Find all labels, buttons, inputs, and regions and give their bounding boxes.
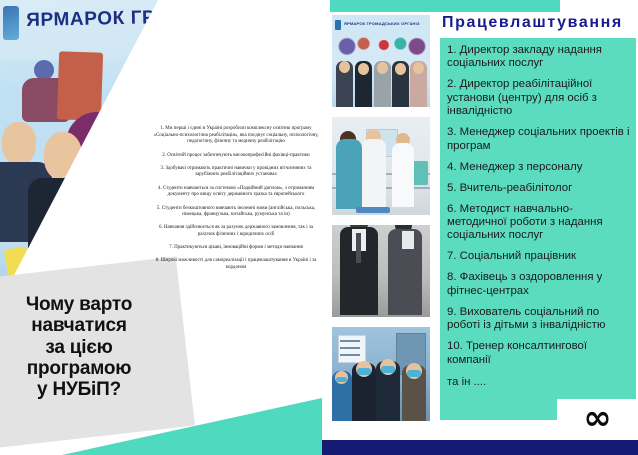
face-mask-icon: [357, 368, 371, 375]
banner-logo-icon: [3, 6, 19, 40]
mini-banner-text: ЯРМАРОК ГРОМАДСЬКИХ ОРГАНІЗ: [344, 21, 420, 26]
etc-label: та ін ....: [447, 376, 631, 389]
page-title: Чому варто навчатися за цією програмою у…: [0, 294, 158, 400]
employment-section-title: Працевлаштування: [442, 14, 638, 32]
benefit-item: 2. Освітній процес забезпечують високопр…: [152, 153, 320, 160]
photo-column: ЯРМАРОК ГРОМАДСЬКИХ ОРГАНІЗ: [322, 0, 438, 455]
list-item: 9. Вихователь соціальний по роботі із ді…: [447, 306, 631, 333]
list-item: 2. Директор реабілітаційної установи (це…: [447, 78, 631, 118]
illustration-person-1-head: [34, 60, 54, 80]
benefit-item: 5. Студенти безкоштовного вивчають інозе…: [152, 206, 320, 219]
benefit-item: 4. Студенти навчаються за системою «Подв…: [152, 186, 320, 199]
list-item: 1. Директор закладу надання соціальних п…: [447, 44, 631, 71]
photo-business-suits: [331, 224, 431, 318]
poster-line: [340, 340, 360, 342]
face-mask-icon: [336, 377, 347, 382]
top-teal-bar: [330, 0, 560, 12]
benefit-item: 8. Широкі можливості для самореалізації …: [152, 258, 320, 271]
poster-line: [340, 347, 360, 349]
mini-student-head: [377, 62, 388, 74]
patient-body: [362, 139, 386, 209]
benefit-item: 7. Практикуються цікаві, інноваційні фор…: [152, 245, 320, 252]
face-mask-icon: [381, 366, 395, 373]
benefit-item: 3. Здобувачі отримають практичні навички…: [152, 166, 320, 179]
rehab-equipment: [412, 161, 428, 185]
list-item: 7. Соціальний працівник: [447, 250, 631, 263]
mini-student-head: [339, 61, 350, 73]
program-benefits-list: 1. Ми перші і єдині в Україні розробили …: [152, 126, 320, 278]
bottom-navy-bar: [322, 440, 638, 455]
man-tie: [356, 233, 361, 263]
mini-illustration-strip: [336, 31, 428, 59]
woman-blouse: [402, 231, 414, 249]
list-item: 4. Менеджер з персоналу: [447, 161, 631, 174]
infinity-icon: ∞: [583, 404, 611, 432]
list-item: 5. Вчитель-реабілітолог: [447, 182, 631, 195]
mini-students-row: [332, 59, 430, 107]
benefit-item: 1. Ми перші і єдині в Україні розробили …: [152, 126, 320, 146]
illustration-board-shape: [57, 51, 103, 120]
mini-student-head: [395, 63, 406, 75]
therapist-body: [336, 139, 362, 209]
doctor-body: [392, 143, 414, 207]
left-panel: ЯРМАРОК ГРОМАДСЬКИХ О: [0, 0, 322, 455]
infinity-logo-box: ∞: [557, 399, 638, 436]
employment-job-list: 1. Директор закладу надання соціальних п…: [447, 44, 631, 390]
mini-student-head: [413, 62, 424, 74]
list-item: 6. Методист навчально-методичної роботи …: [447, 203, 631, 243]
poster-line: [340, 354, 360, 356]
list-item: 3. Менеджер соціальних проектів і програ…: [447, 126, 631, 153]
photo-masked-students: [331, 326, 431, 422]
student-1-head: [2, 122, 36, 164]
benefit-item: 6. Навчання здійснюється як за рахунок д…: [152, 225, 320, 238]
list-item: 8. Фахівець з оздоровлення у фітнес-цент…: [447, 271, 631, 298]
job-list-items: 1. Директор закладу надання соціальних п…: [447, 44, 631, 367]
mini-banner-logo-icon: [335, 20, 341, 30]
photo-ngo-fair: ЯРМАРОК ГРОМАДСЬКИХ ОРГАНІЗ: [331, 14, 431, 108]
face-mask-icon: [407, 370, 421, 377]
floor-mat: [356, 207, 390, 213]
list-item: 10. Тренер консалтингової компанії: [447, 340, 631, 367]
slide-canvas: ЯРМАРОК ГРОМАДСЬКИХ О: [0, 0, 638, 455]
photo-rehabilitation-session: [331, 116, 431, 216]
right-panel: Працевлаштування 1. Директор закладу над…: [438, 0, 638, 455]
mini-student-head: [358, 63, 369, 75]
